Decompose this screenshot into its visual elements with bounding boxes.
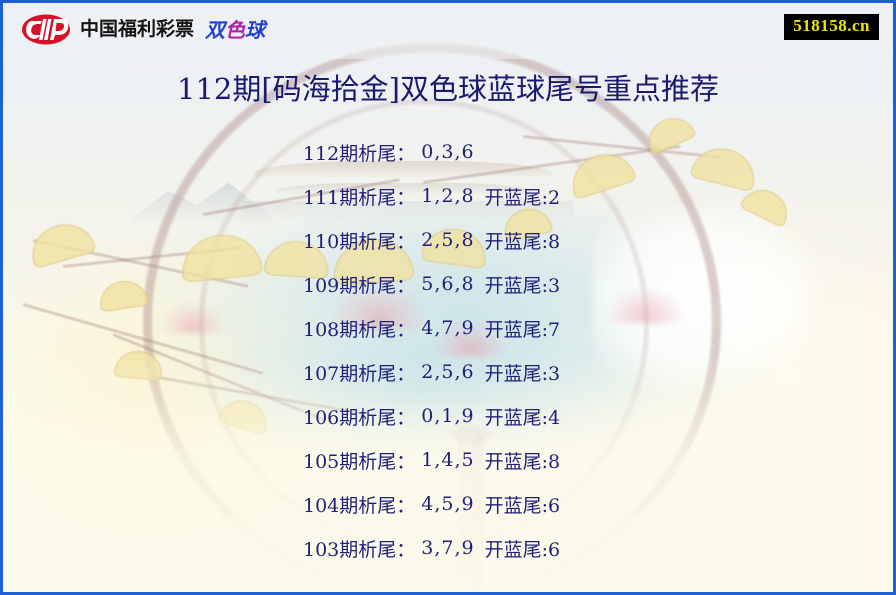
product-name-label: 双色球: [205, 20, 265, 40]
row-issue-label: 112期析尾：: [303, 139, 415, 166]
forecast-row: 112期析尾：0,3,6: [303, 130, 560, 174]
forecast-row: 107期析尾：2,5,6开蓝尾:3: [303, 350, 560, 394]
row-tails-value: 1,2,8: [421, 185, 474, 207]
row-tails-value: 4,7,9: [421, 317, 474, 339]
twig-icon: [63, 246, 242, 268]
ginkgo-leaf-icon: [114, 349, 165, 382]
twig-icon: [23, 303, 264, 375]
forecast-row: 109期析尾：5,6,8开蓝尾:3: [303, 262, 560, 306]
poster-page: 中国福利彩票 双色球 518158.cn 112期[码海拾金]双色球蓝球尾号重点…: [0, 0, 896, 595]
row-opened-value: 开蓝尾:8: [485, 447, 561, 474]
site-url-badge[interactable]: 518158.cn: [784, 14, 879, 40]
row-tails-value: 1,4,5: [421, 449, 474, 471]
product-name-char-1: 双: [205, 18, 225, 42]
row-issue-label: 104期析尾：: [303, 491, 415, 518]
row-opened-value: 开蓝尾:6: [485, 535, 561, 562]
row-tails-value: 2,5,8: [421, 229, 474, 251]
mountain-silhouette-icon: [123, 179, 283, 225]
forecast-row: 110期析尾：2,5,8开蓝尾:8: [303, 218, 560, 262]
row-issue-label: 110期析尾：: [303, 227, 415, 254]
ginkgo-leaf-icon: [565, 146, 637, 200]
row-opened-value: 开蓝尾:3: [485, 359, 561, 386]
row-issue-label: 111期析尾：: [303, 183, 415, 210]
cwl-red-emblem-icon: [21, 13, 71, 46]
ginkgo-leaf-icon: [641, 110, 696, 155]
forecast-row: 108期析尾：4,7,9开蓝尾:7: [303, 306, 560, 350]
row-opened-value: 开蓝尾:2: [485, 183, 561, 210]
row-tails-value: 4,5,9: [421, 493, 474, 515]
row-tails-value: 5,6,8: [421, 273, 474, 295]
row-opened-value: 开蓝尾:7: [485, 315, 561, 342]
twig-icon: [33, 239, 249, 288]
ginkgo-leaf-icon: [97, 278, 148, 312]
page-title: 112期[码海拾金]双色球蓝球尾号重点推荐: [3, 66, 893, 108]
forecast-row: 111期析尾：1,2,8开蓝尾:2: [303, 174, 560, 218]
row-issue-label: 109期析尾：: [303, 271, 415, 298]
row-issue-label: 105期析尾：: [303, 447, 415, 474]
lotus-blossom-icon: [163, 303, 223, 333]
background-glow-right: [513, 123, 893, 592]
row-tails-value: 2,5,6: [421, 361, 474, 383]
row-tails-value: 0,1,9: [421, 405, 474, 427]
brand-logo-row: 中国福利彩票 双色球: [21, 13, 265, 46]
ginkgo-leaf-icon: [739, 182, 794, 228]
ginkgo-leaf-icon: [218, 394, 272, 435]
row-opened-value: 开蓝尾:3: [485, 271, 561, 298]
brand-name-label: 中国福利彩票: [80, 20, 194, 39]
forecast-row: 106期析尾：0,1,9开蓝尾:4: [303, 394, 560, 438]
forecast-row: 103期析尾：3,7,9开蓝尾:6: [303, 526, 560, 570]
ginkgo-leaf-icon: [25, 217, 96, 269]
forecast-row: 104期析尾：4,5,9开蓝尾:6: [303, 482, 560, 526]
row-tails-value: 3,7,9: [421, 537, 474, 559]
twig-icon: [112, 333, 326, 422]
ginkgo-leaf-icon: [690, 142, 761, 192]
row-issue-label: 107期析尾：: [303, 359, 415, 386]
forecast-list: 112期析尾：0,3,6111期析尾：1,2,8开蓝尾:2110期析尾：2,5,…: [303, 130, 560, 570]
forecast-row: 105期析尾：1,4,5开蓝尾:8: [303, 438, 560, 482]
row-issue-label: 103期析尾：: [303, 535, 415, 562]
row-issue-label: 108期析尾：: [303, 315, 415, 342]
row-opened-value: 开蓝尾:4: [485, 403, 561, 430]
row-issue-label: 106期析尾：: [303, 403, 415, 430]
row-tails-value: 0,3,6: [421, 141, 474, 163]
product-name-char-2: 色: [225, 18, 245, 42]
ginkgo-leaf-icon: [179, 231, 263, 283]
lotus-blossom-icon: [609, 289, 681, 323]
row-opened-value: 开蓝尾:6: [485, 491, 561, 518]
product-name-char-3: 球: [245, 18, 265, 42]
cloud-rock-icon: [593, 203, 823, 393]
row-opened-value: 开蓝尾:8: [485, 227, 561, 254]
